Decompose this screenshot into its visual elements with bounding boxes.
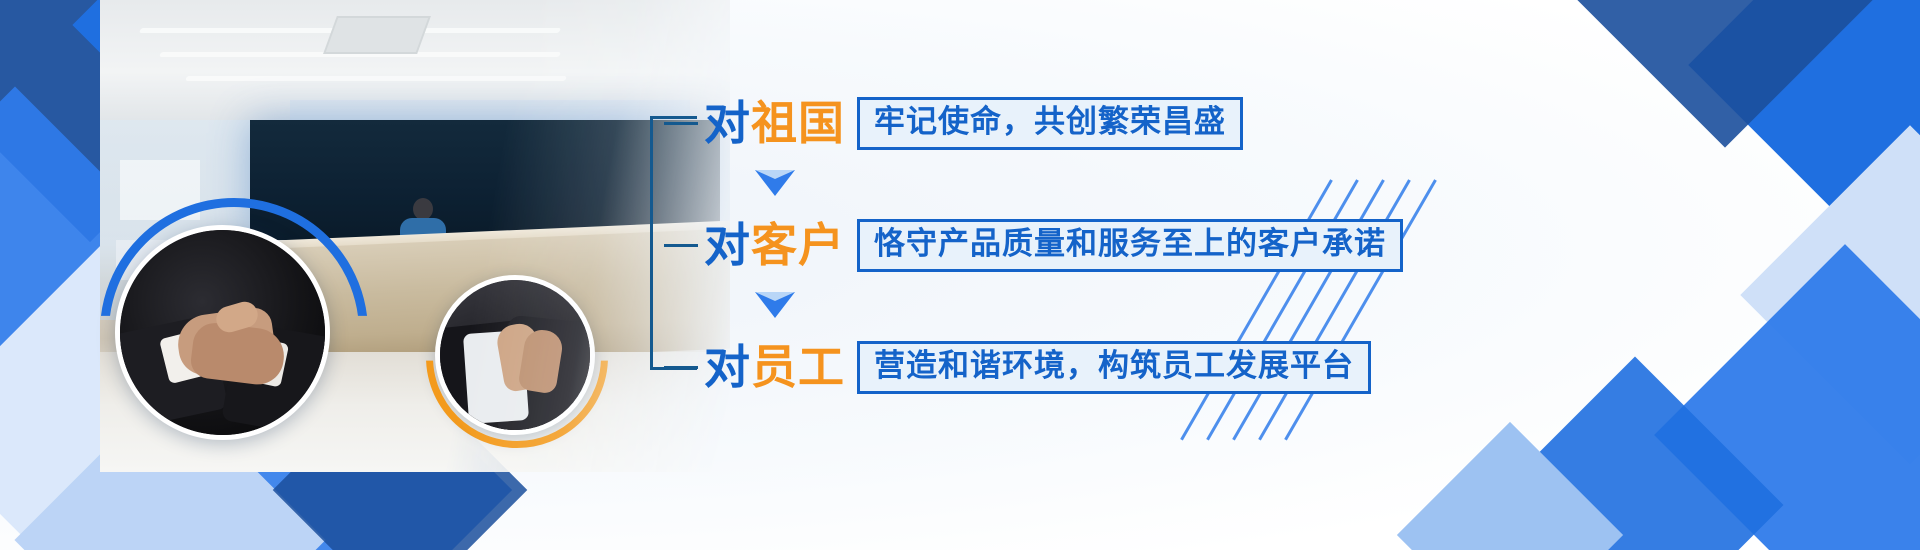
value-row-country: 对祖国 牢记使命，共创繁荣昌盛 [664,92,1243,154]
arrow-down-icon [755,292,795,318]
value-statement-country: 牢记使命，共创繁荣昌盛 [857,97,1243,150]
ceiling-light-strip [185,76,567,81]
bracket-tick [664,366,698,369]
value-subject: 客户 [751,218,845,272]
value-row-employee: 对员工 营造和谐环境，构筑员工发展平台 [664,336,1371,398]
value-heading-employee: 对员工 [704,344,845,390]
bracket-tick [664,244,698,247]
bracket-tick [664,122,698,125]
value-heading-country: 对祖国 [704,100,845,146]
ceiling-vent [323,16,431,54]
value-statement-employee: 营造和谐环境，构筑员工发展平台 [857,341,1371,394]
photo-collage: 宏森环保 HONGSEN ENVIRONMENTAL PROTECTION [40,0,730,550]
value-prefix: 对 [704,218,751,272]
company-values-banner: 宏森环保 HONGSEN ENVIRONMENTAL PROTECTION [0,0,1920,550]
arrow-down-icon [755,170,795,196]
value-row-customer: 对客户 恪守产品质量和服务至上的客户承诺 [664,214,1403,276]
value-statement-customer: 恪守产品质量和服务至上的客户承诺 [857,219,1403,272]
staff-head [413,198,433,220]
value-prefix: 对 [704,96,751,150]
value-subject: 祖国 [751,96,845,150]
value-subject: 员工 [751,340,845,394]
values-list: 对祖国 牢记使命，共创繁荣昌盛 对客户 恪守产品质量和服务至上的客户承诺 对员工… [650,70,1650,400]
value-heading-customer: 对客户 [704,222,845,268]
value-prefix: 对 [704,340,751,394]
